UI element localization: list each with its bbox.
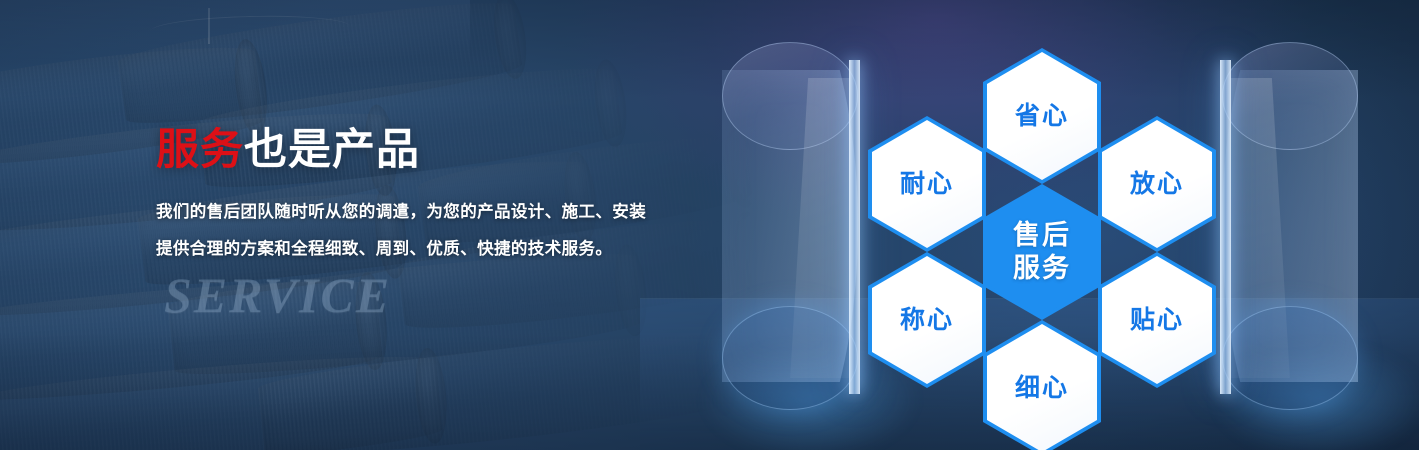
hexagon-label: 称心: [900, 306, 954, 335]
page-title-rest: 也是产品: [244, 126, 420, 174]
hexagon-face: 省心: [987, 52, 1097, 180]
cylinder-light-edge: [1220, 60, 1231, 394]
service-banner: 服务也是产品 我们的售后团队随时听从您的调遣，为您的产品设计、施工、安装 提供合…: [0, 0, 1419, 450]
glass-cylinder-right: [1222, 42, 1358, 410]
hexagon-label: 细心: [1015, 374, 1069, 403]
description-line-2: 提供合理的方案和全程细致、周到、优质、快捷的技术服务。: [156, 231, 736, 268]
glass-cylinder-left: [722, 42, 858, 410]
hexagon-center-label: 售后服务: [1013, 219, 1071, 285]
hexagon-face: 称心: [872, 256, 982, 384]
watermark-text: SERVICE: [164, 266, 391, 324]
description-line-1: 我们的售后团队随时听从您的调遣，为您的产品设计、施工、安装: [156, 194, 736, 231]
hexagon-label: 省心: [1015, 102, 1069, 131]
hexagon-label: 耐心: [900, 170, 954, 199]
hexagon-center-line-2: 服务: [1013, 253, 1071, 283]
page-title-highlight: 服务: [156, 126, 244, 174]
hexagon-center-line-1: 售后: [1013, 220, 1071, 250]
hexagon-top[interactable]: 省心: [983, 48, 1101, 184]
hexagon-face: 售后服务: [987, 188, 1097, 316]
hexagon-face: 耐心: [872, 120, 982, 248]
hexagon-face: 放心: [1102, 120, 1212, 248]
hexagon-lower-right[interactable]: 贴心: [1098, 252, 1216, 388]
hexagon-lower-left[interactable]: 称心: [868, 252, 986, 388]
hexagon-bottom[interactable]: 细心: [983, 320, 1101, 450]
hexagon-upper-right[interactable]: 放心: [1098, 116, 1216, 252]
cylinder-light-edge: [849, 60, 860, 394]
hexagon-label: 放心: [1130, 170, 1184, 199]
copy-block: 服务也是产品 我们的售后团队随时听从您的调遣，为您的产品设计、施工、安装 提供合…: [156, 126, 736, 268]
hexagon-center[interactable]: 售后服务: [983, 184, 1101, 320]
page-title: 服务也是产品: [156, 126, 736, 174]
hexagon-face: 细心: [987, 324, 1097, 450]
hexagon-face: 贴心: [1102, 256, 1212, 384]
hexagon-label: 贴心: [1130, 306, 1184, 335]
hexagon-upper-left[interactable]: 耐心: [868, 116, 986, 252]
hexagon-cluster: 耐心 省心 放心 称心 贴心 细心: [868, 48, 1216, 404]
